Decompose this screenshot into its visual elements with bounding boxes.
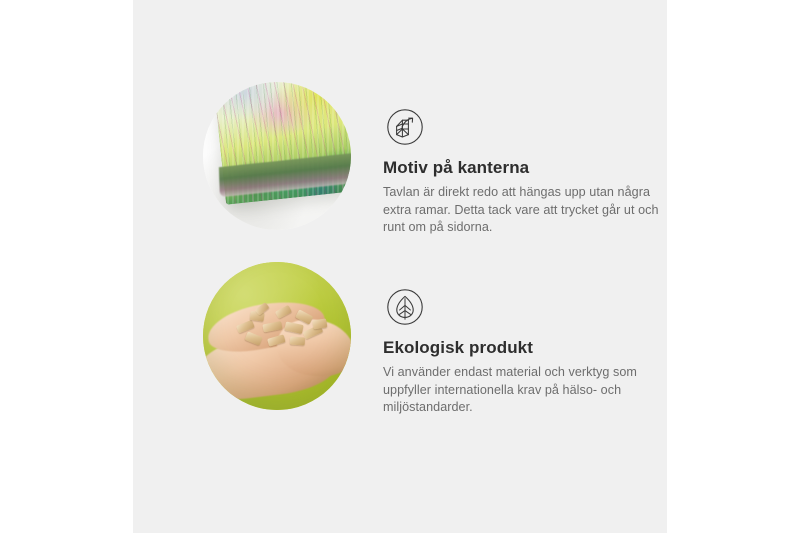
- photo-backdrop: [203, 262, 351, 410]
- canvas-wrapped-edge-icon: [386, 108, 424, 146]
- feature-text-block: Ekologisk produkt Vi använder endast mat…: [383, 338, 673, 417]
- feature-body: Tavlan är direkt redo att hängas upp uta…: [383, 184, 673, 237]
- hands-with-wood-chips-photo: [203, 262, 351, 410]
- photo-vignette: [203, 262, 351, 410]
- feature-body: Vi använder endast material och verktyg …: [383, 364, 673, 417]
- feature-heading: Motiv på kanterna: [383, 158, 673, 178]
- content-panel: Motiv på kanterna Tavlan är direkt redo …: [133, 0, 667, 533]
- canvas-print-corner-photo: [203, 82, 351, 230]
- photo-backdrop: [203, 82, 351, 230]
- feature-heading: Ekologisk produkt: [383, 338, 673, 358]
- product-feature-banner: Motiv på kanterna Tavlan är direkt redo …: [0, 0, 800, 533]
- leaf-icon: [386, 288, 424, 326]
- feature-text-block: Motiv på kanterna Tavlan är direkt redo …: [383, 158, 673, 237]
